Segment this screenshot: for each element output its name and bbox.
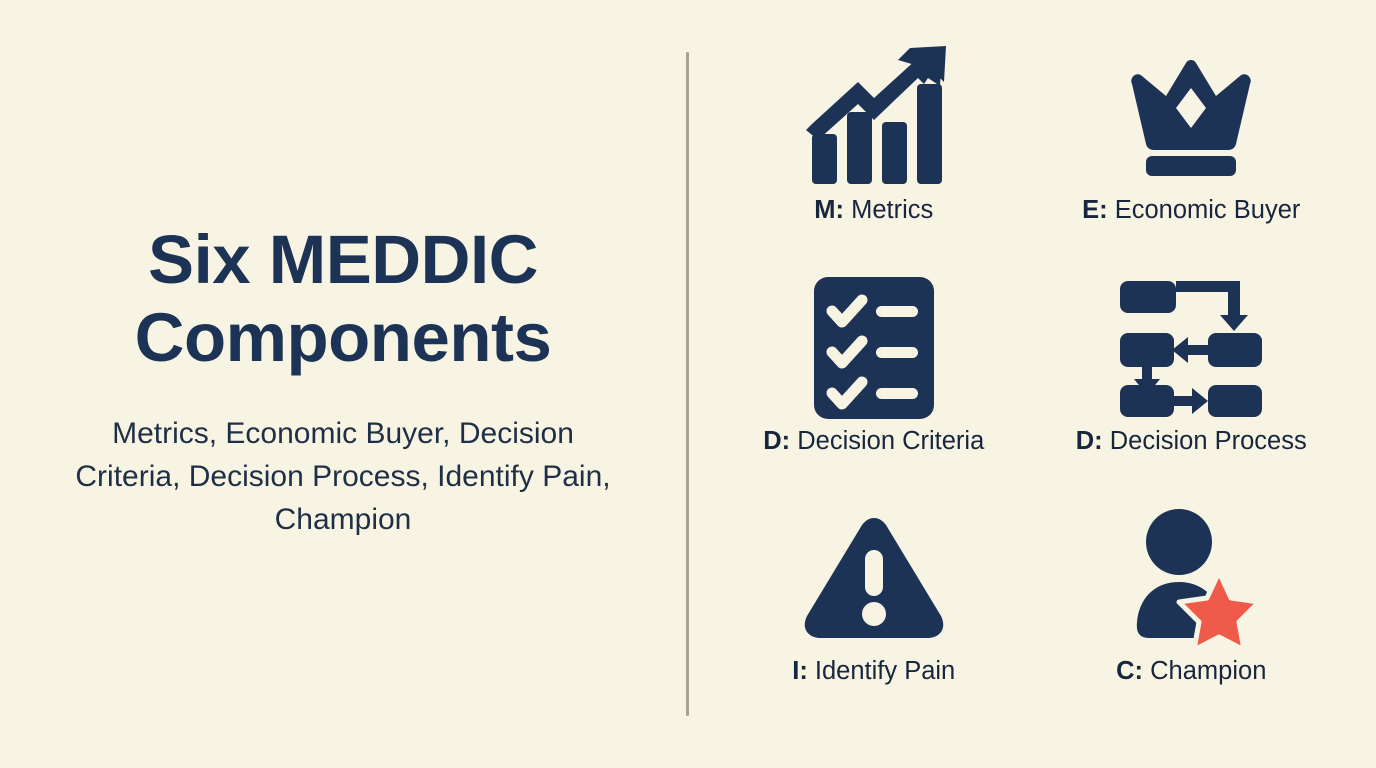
component-label: E: Economic Buyer [1082, 198, 1300, 224]
component-label: C: Champion [1116, 659, 1266, 685]
component-name: Decision Criteria [797, 427, 984, 455]
component-label: D: Decision Process [1076, 429, 1307, 455]
warning-triangle-icon [801, 503, 947, 653]
component-name: Champion [1150, 657, 1266, 685]
page-title: Six MEDDIC Components [73, 221, 613, 378]
component-key: M: [814, 196, 844, 224]
person-star-icon [1121, 503, 1261, 653]
components-grid: M: Metrics E: Economic Buyer [689, 0, 1376, 768]
component-card-metrics: M: Metrics [715, 42, 1033, 273]
component-name: Decision Process [1110, 427, 1307, 455]
component-label: D: Decision Criteria [763, 429, 984, 455]
page-subtitle: Metrics, Economic Buyer, Decision Criter… [63, 412, 623, 542]
component-label: I: Identify Pain [792, 659, 955, 685]
component-card-champion: C: Champion [1033, 503, 1351, 734]
component-key: E: [1082, 196, 1108, 224]
checklist-icon [812, 273, 936, 423]
component-name: Metrics [851, 196, 933, 224]
crown-icon [1120, 42, 1262, 192]
component-card-decision-process: D: Decision Process [1033, 273, 1351, 504]
flowchart-icon [1116, 273, 1266, 423]
component-key: C: [1116, 657, 1143, 685]
component-name: Identify Pain [815, 657, 955, 685]
bar-chart-growth-icon [800, 42, 948, 192]
left-text-panel: Six MEDDIC Components Metrics, Economic … [0, 0, 686, 768]
infographic-slide: Six MEDDIC Components Metrics, Economic … [0, 0, 1376, 768]
component-name: Economic Buyer [1115, 196, 1301, 224]
component-key: I: [792, 657, 808, 685]
component-label: M: Metrics [814, 198, 933, 224]
component-card-decision-criteria: D: Decision Criteria [715, 273, 1033, 504]
component-card-economic-buyer: E: Economic Buyer [1033, 42, 1351, 273]
component-key: D: [763, 427, 790, 455]
component-key: D: [1076, 427, 1103, 455]
component-card-identify-pain: I: Identify Pain [715, 503, 1033, 734]
